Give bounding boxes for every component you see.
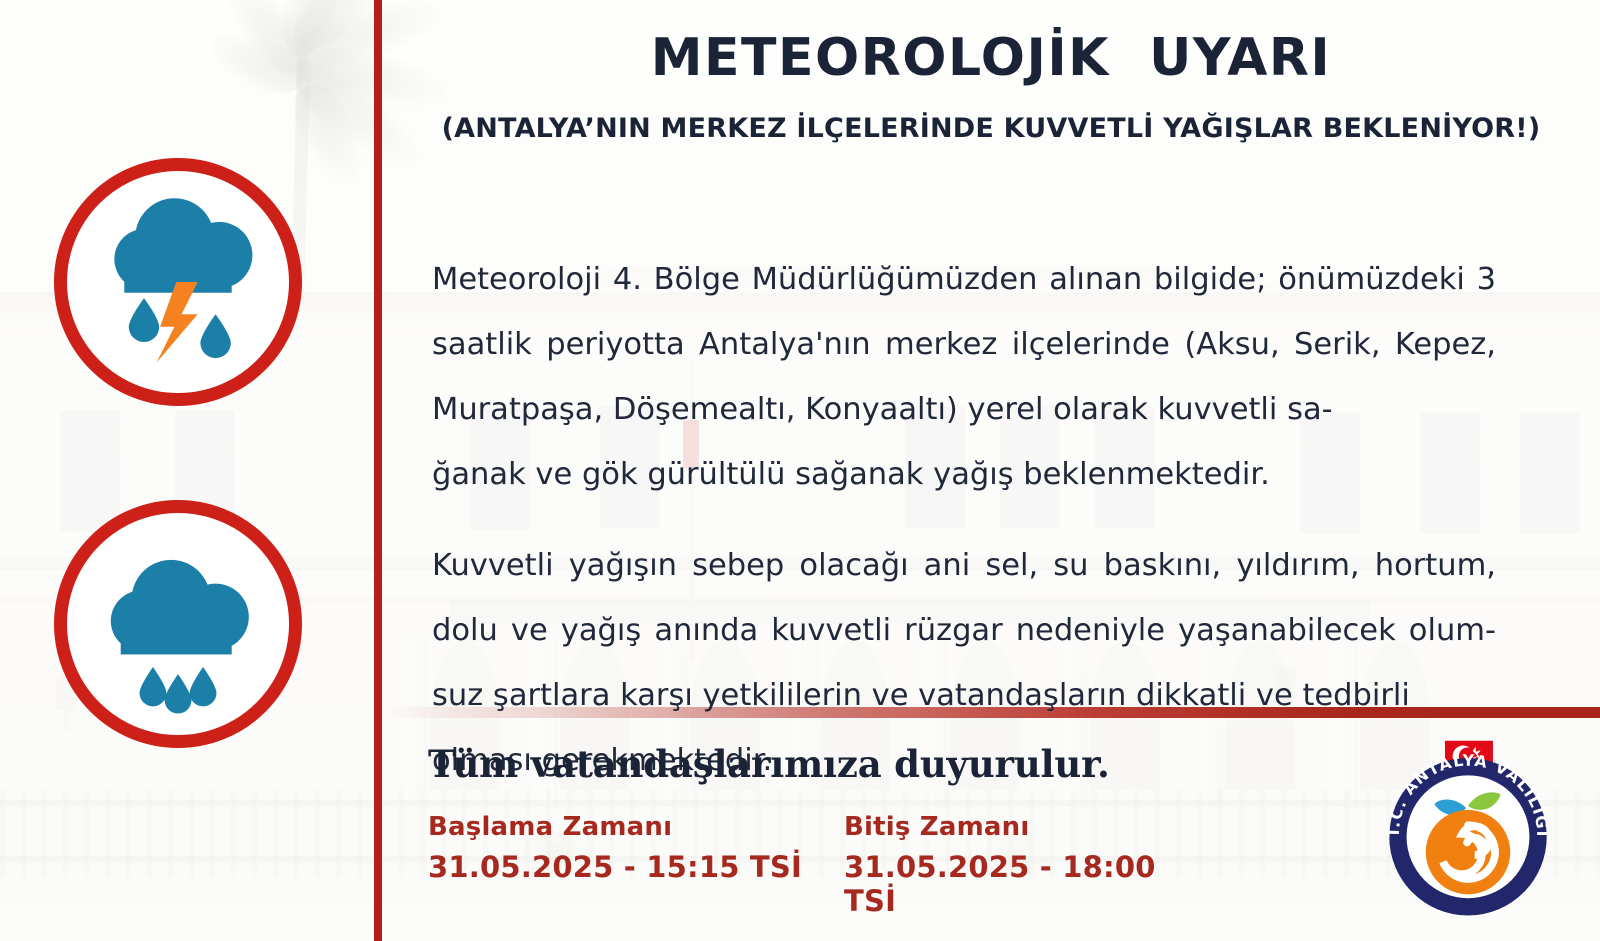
page-title: METEOROLOJİK UYARI [382, 28, 1600, 88]
start-time-value: 31.05.2025 - 15:15 TSİ [428, 850, 802, 884]
thunderstorm-icon [54, 158, 302, 406]
warning-paragraph-2: Kuvvetli yağışın sebep olacağı ani sel, … [432, 468, 1496, 858]
warning-icon-column [0, 0, 374, 941]
rain-icon [54, 500, 302, 748]
paragraph-2-text: Kuvvetli yağışın sebep olacağı ani sel, … [432, 548, 1496, 713]
page-subtitle: (ANTALYA’NIN MERKEZ İLÇELERİNDE KUVVETLİ… [382, 113, 1600, 144]
paragraph-1-text: Meteoroloji 4. Bölge Müdürlüğümüzden alı… [432, 262, 1496, 427]
end-time-label: Bitiş Zamanı [844, 812, 1188, 842]
start-time-label: Başlama Zamanı [428, 812, 802, 842]
antalya-governorship-seal: T.C. ANTALYA VALİLİĞİ [1372, 735, 1564, 927]
end-time-block: Bitiş Zamanı 31.05.2025 - 18:00 TSİ [844, 812, 1188, 918]
end-time-value: 31.05.2025 - 18:00 TSİ [844, 850, 1188, 918]
vertical-divider [374, 0, 382, 941]
start-time-block: Başlama Zamanı 31.05.2025 - 15:15 TSİ [428, 812, 802, 884]
announcement-line: Tüm vatandaşlarımıza duyurulur. [428, 742, 1110, 786]
meteorological-warning-poster: METEOROLOJİK UYARI (ANTALYA’NIN MERKEZ İ… [0, 0, 1600, 941]
